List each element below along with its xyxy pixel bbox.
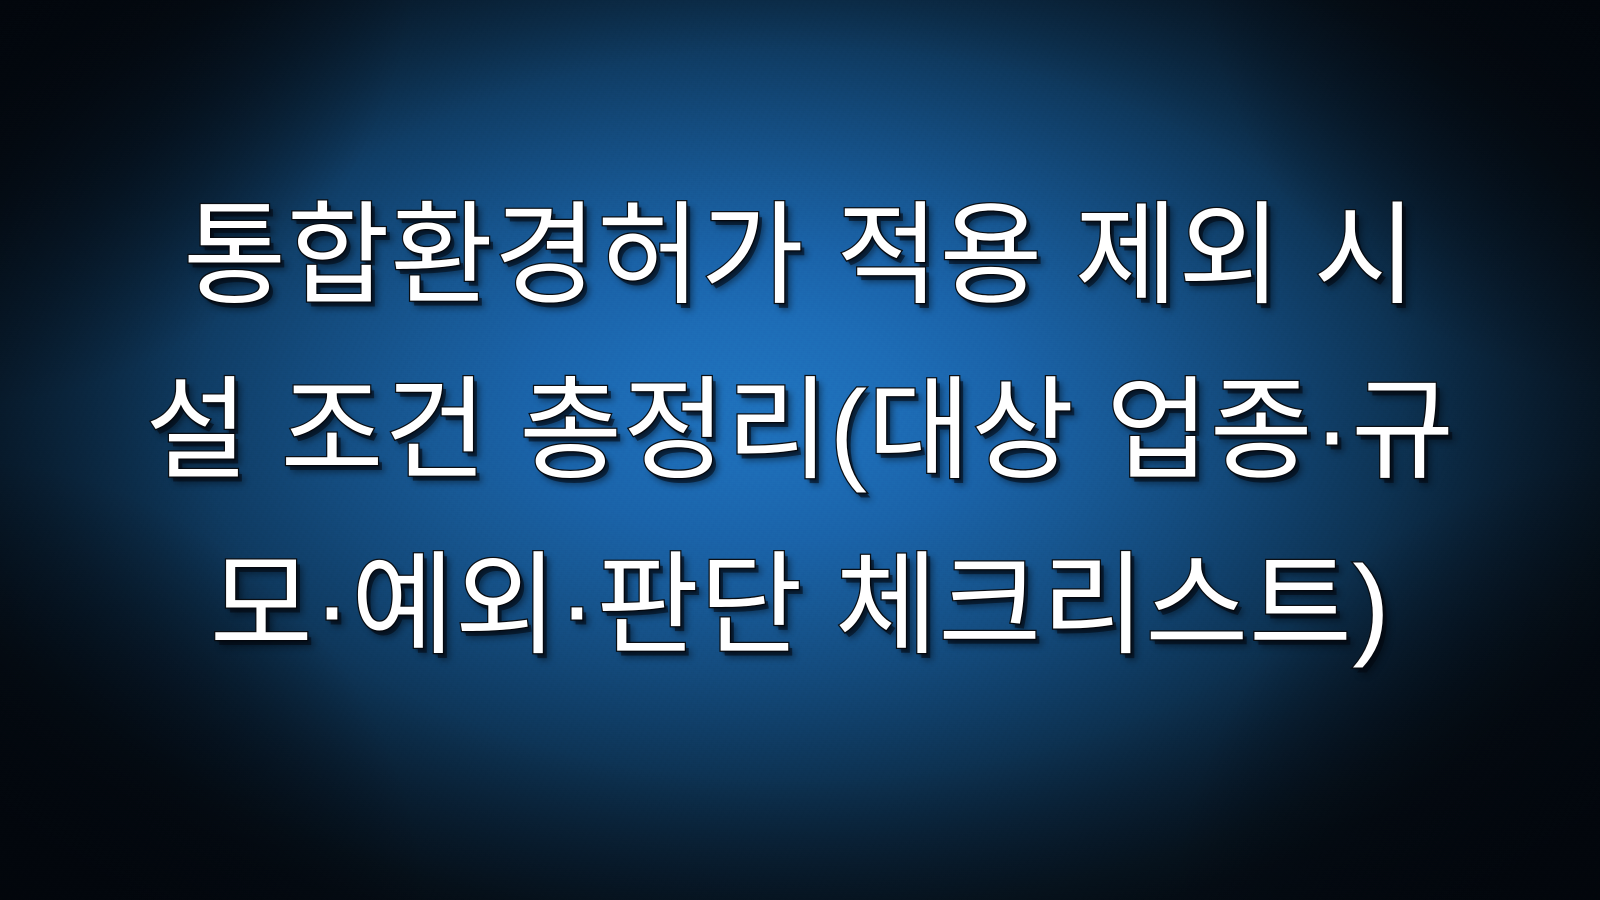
title-slide: 통합환경허가 적용 제외 시 설 조건 총정리(대상 업종·규 모·예외·판단 … xyxy=(0,0,1600,900)
title-line-2: 설 조건 총정리(대상 업종·규 xyxy=(0,343,1600,518)
title-line-3: 모·예외·판단 체크리스트) xyxy=(0,518,1600,693)
title-line-1: 통합환경허가 적용 제외 시 xyxy=(0,168,1600,343)
page-title: 통합환경허가 적용 제외 시 설 조건 총정리(대상 업종·규 모·예외·판단 … xyxy=(0,168,1600,693)
